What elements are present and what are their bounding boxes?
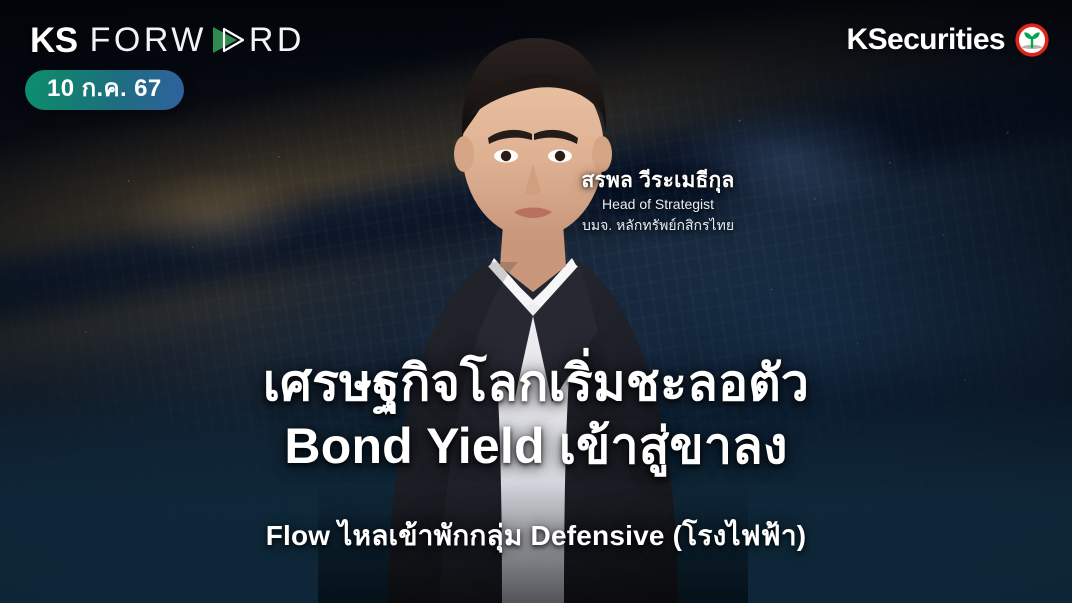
ksecurities-wordmark: KSecurities <box>847 25 1005 55</box>
presenter-photo <box>318 0 748 603</box>
headline: เศรษฐกิจโลกเริ่มชะลอตัว Bond Yield เข้าส… <box>0 352 1072 478</box>
speaker-name: สรพล วีระเมธีกุล <box>548 168 768 194</box>
headline-line-2: Bond Yield เข้าสู่ขาลง <box>0 415 1072 478</box>
ks-wordmark-prefix: FORW <box>90 23 207 57</box>
subheadline: Flow ไหลเข้าพักกลุ่ม Defensive (โรงไฟฟ้า… <box>0 518 1072 554</box>
play-triangle-icon <box>211 25 245 55</box>
headline-line-1: เศรษฐกิจโลกเริ่มชะลอตัว <box>0 352 1072 415</box>
ks-forward-title-card: KS FORW RD 10 ก.ค. 67 KSecurities <box>0 0 1072 603</box>
date-badge: 10 ก.ค. 67 <box>25 70 184 110</box>
ks-wordmark-suffix: RD <box>249 23 305 57</box>
ks-forward-logo: KS FORW RD <box>30 18 305 62</box>
speaker-info: สรพล วีระเมธีกุล Head of Strategist บมจ.… <box>548 168 768 236</box>
speaker-organization: บมจ. หลักทรัพย์กสิกรไทย <box>548 215 768 235</box>
seedling-in-circle-icon <box>1014 22 1050 58</box>
speaker-role: Head of Strategist <box>548 194 768 215</box>
ks-logo-wordmark: FORW RD <box>90 23 305 57</box>
ks-logo-mark: KS <box>30 23 78 58</box>
ksecurities-logo: KSecurities <box>847 22 1050 58</box>
